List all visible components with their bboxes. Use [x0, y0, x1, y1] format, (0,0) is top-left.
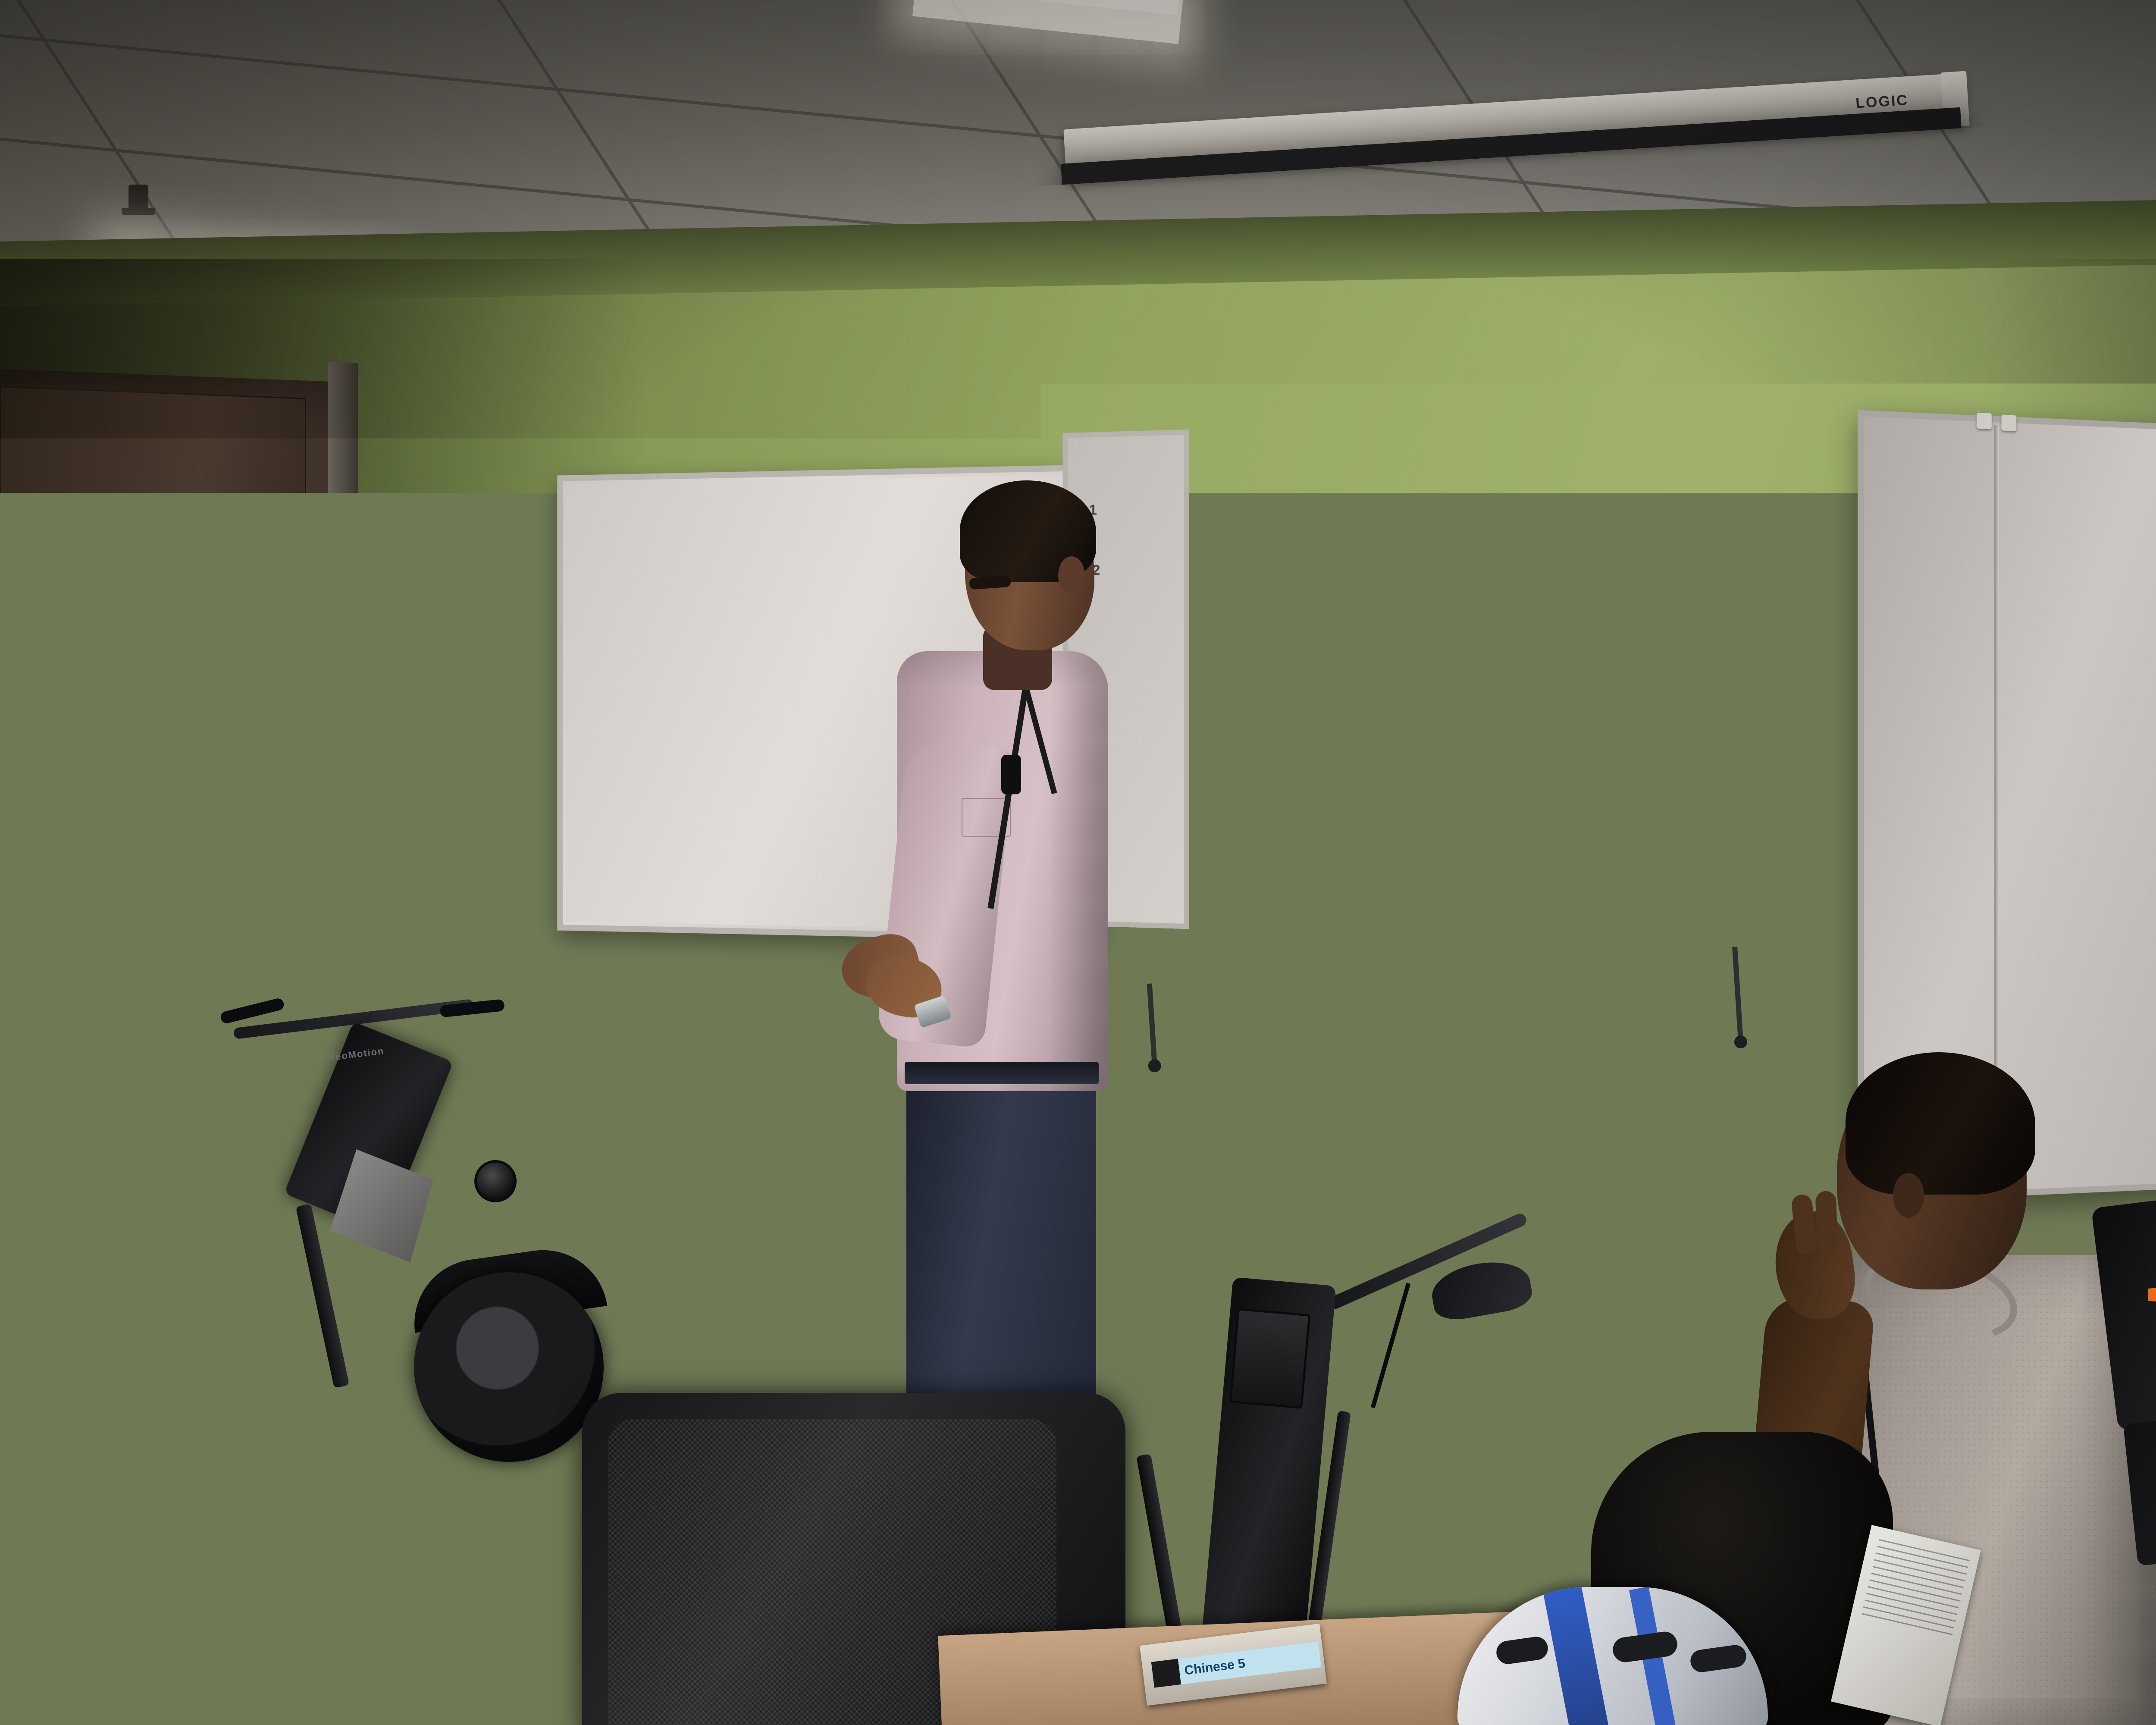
orange-wheelchair [2053, 1173, 2156, 1725]
whiteboard-clip-2 [2002, 414, 2017, 431]
door-vent-panel [116, 538, 175, 853]
neomotion-grip-left [219, 997, 285, 1024]
audience-finger-2 [1815, 1191, 1838, 1252]
helmet-vent-1 [1495, 1635, 1549, 1665]
helmet-stripe-primary [1543, 1587, 1609, 1725]
classroom-photo-scene: NO FOOD & BEVERAGES ALLOWED -1 22 LOGIC [0, 0, 2156, 1725]
audience-hair [1846, 1052, 2035, 1195]
slide-arrow-functional-to-physiological [1399, 624, 1447, 699]
projector-brand-label: LOGIC [1855, 92, 1909, 112]
helmet-vent-2 [1611, 1630, 1679, 1664]
presenter-trousers [906, 1069, 1096, 1449]
logo-digit-2: 2 [1171, 297, 1187, 326]
no-food-sign-line1: NO FOOD & BEVERAGES [191, 615, 252, 630]
neomotion-power-addon: NeoMotion [207, 970, 638, 1445]
r2d2-logo: 2 R2D2 IIT Madras [1136, 261, 1222, 329]
handcycle-seat [1428, 1255, 1534, 1324]
helmet-vent-3 [1689, 1643, 1748, 1674]
slide-arrow-physiological-to-life-roles [1520, 605, 1585, 690]
document-text-lines [1861, 1539, 1970, 1636]
sprinkler-head-icon [128, 185, 148, 210]
slide-title: Maintaining a Healthy Lifestyle [1222, 212, 1890, 312]
wall-power-socket[interactable] [499, 928, 596, 974]
prohibition-icon [196, 640, 247, 693]
bottle-cap[interactable] [1391, 1521, 1423, 1544]
projector-screen: 2 R2D2 IIT Madras Maintaining a Healthy … [1061, 107, 2011, 969]
slide-footer-credit: Clinical Team, R2D2, IIT Madras [1148, 849, 1315, 872]
cup-and-burger-glyph [208, 657, 235, 675]
neomotion-headlight-icon [474, 1160, 517, 1202]
socket-outlet [563, 941, 589, 967]
logo-mark-icon: 2 [1136, 263, 1194, 329]
no-food-beverages-sign: NO FOOD & BEVERAGES ALLOWED [190, 609, 254, 720]
presenter-ear [1058, 556, 1085, 595]
audience-ear [1893, 1173, 1924, 1218]
neomotion-wheel [414, 1272, 604, 1462]
wheelchair-backrest [2091, 1191, 2156, 1431]
bottle-label: Repute [1376, 1605, 1438, 1687]
bottle-neck [1394, 1540, 1420, 1565]
slide-footer-date: 28.08.2023 [1816, 815, 1873, 831]
bottle-brand-text: Repute [1385, 1639, 1430, 1653]
presentation-slide: 2 R2D2 IIT Madras Maintaining a Healthy … [1101, 188, 1968, 890]
handcycle-cable [1371, 1283, 1410, 1408]
presenter-belt [905, 1062, 1099, 1084]
socket-switch[interactable] [506, 936, 557, 965]
slide-bubble-physiological: Physiological [1392, 319, 1571, 528]
wheelchair-seat-cushion [2123, 1405, 2156, 1566]
office-chair-second[interactable] [0, 1242, 121, 1630]
handcycle-display-panel [1229, 1308, 1311, 1409]
presenter-lapel-microphone [1001, 755, 1021, 794]
water-bottle[interactable]: Repute [1375, 1527, 1439, 1725]
no-food-sign-line2: ALLOWED [208, 629, 236, 636]
